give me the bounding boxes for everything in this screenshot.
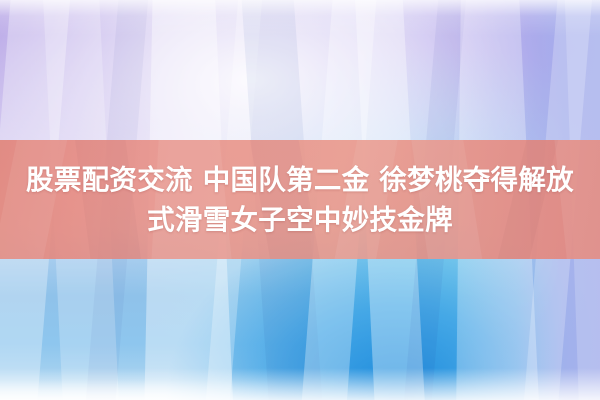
- banner-image: 股票配资交流 中国队第二金 徐梦桃夺得解放式滑雪女子空中妙技金牌: [0, 0, 600, 400]
- headline-banner: 股票配资交流 中国队第二金 徐梦桃夺得解放式滑雪女子空中妙技金牌: [0, 140, 600, 259]
- watermark-text: [286, 380, 322, 394]
- headline-title: 股票配资交流 中国队第二金 徐梦桃夺得解放式滑雪女子空中妙技金牌: [14, 160, 586, 240]
